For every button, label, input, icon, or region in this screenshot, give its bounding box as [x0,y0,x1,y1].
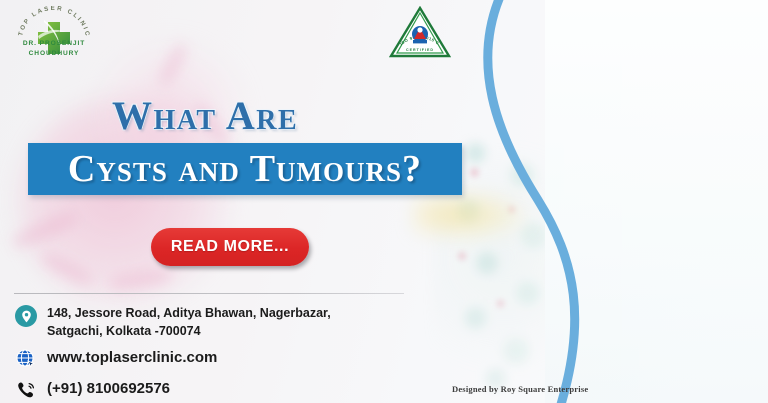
badge-certified-label: CERTIFIED [406,48,434,52]
pin-glyph [21,310,32,323]
location-pin-icon [14,304,38,328]
phone-glyph [16,380,36,400]
clinic-logo[interactable]: TOP LASER CLINIC DR. PROSENJIT CHOUDHURY [8,6,100,60]
headline-line-2: Cysts and Tumours? [28,143,462,195]
headline-highlight-band: Cysts and Tumours? [28,143,462,195]
logo-doctor-name-line2: CHOUDHURY [8,49,100,59]
contact-info: 148, Jessore Road, Aditya Bhawan, Nagerb… [14,304,434,403]
globe-icon [14,347,38,371]
logo-doctor-name-line1: DR. PROSENJIT [8,39,100,49]
contact-row-address: 148, Jessore Road, Aditya Bhawan, Nagerb… [14,304,434,340]
phone-text[interactable]: (+91) 8100692576 [47,378,170,400]
background-cell-dot [458,252,466,260]
headline-line-1: What Are [112,92,298,139]
contact-row-phone[interactable]: (+91) 8100692576 [14,378,434,402]
blue-swoosh-divider [470,0,650,403]
globe-glyph [16,349,36,369]
footer-divider [14,293,404,294]
iso-badge-graphic: ISO 9001:2015 CERTIFIED CERTIFIED [389,6,451,58]
iso-certified-badge: ISO 9001:2015 CERTIFIED CERTIFIED [389,6,451,58]
badge-emblem-bar [413,40,427,43]
contact-row-website[interactable]: www.toplaserclinic.com [14,347,434,371]
designer-credit: Designed by Roy Square Enterprise [452,384,588,394]
address-text: 148, Jessore Road, Aditya Bhawan, Nagerb… [47,304,331,340]
badge-emblem-dot [417,27,422,32]
website-text[interactable]: www.toplaserclinic.com [47,347,217,369]
address-line-1: 148, Jessore Road, Aditya Bhawan, Nagerb… [47,306,331,320]
phone-icon [14,378,38,402]
promo-banner: TOP LASER CLINIC DR. PROSENJIT CHOUDHURY… [0,0,768,403]
address-line-2: Satgachi, Kolkata -700074 [47,324,201,338]
read-more-button[interactable]: READ MORE... [151,228,309,266]
